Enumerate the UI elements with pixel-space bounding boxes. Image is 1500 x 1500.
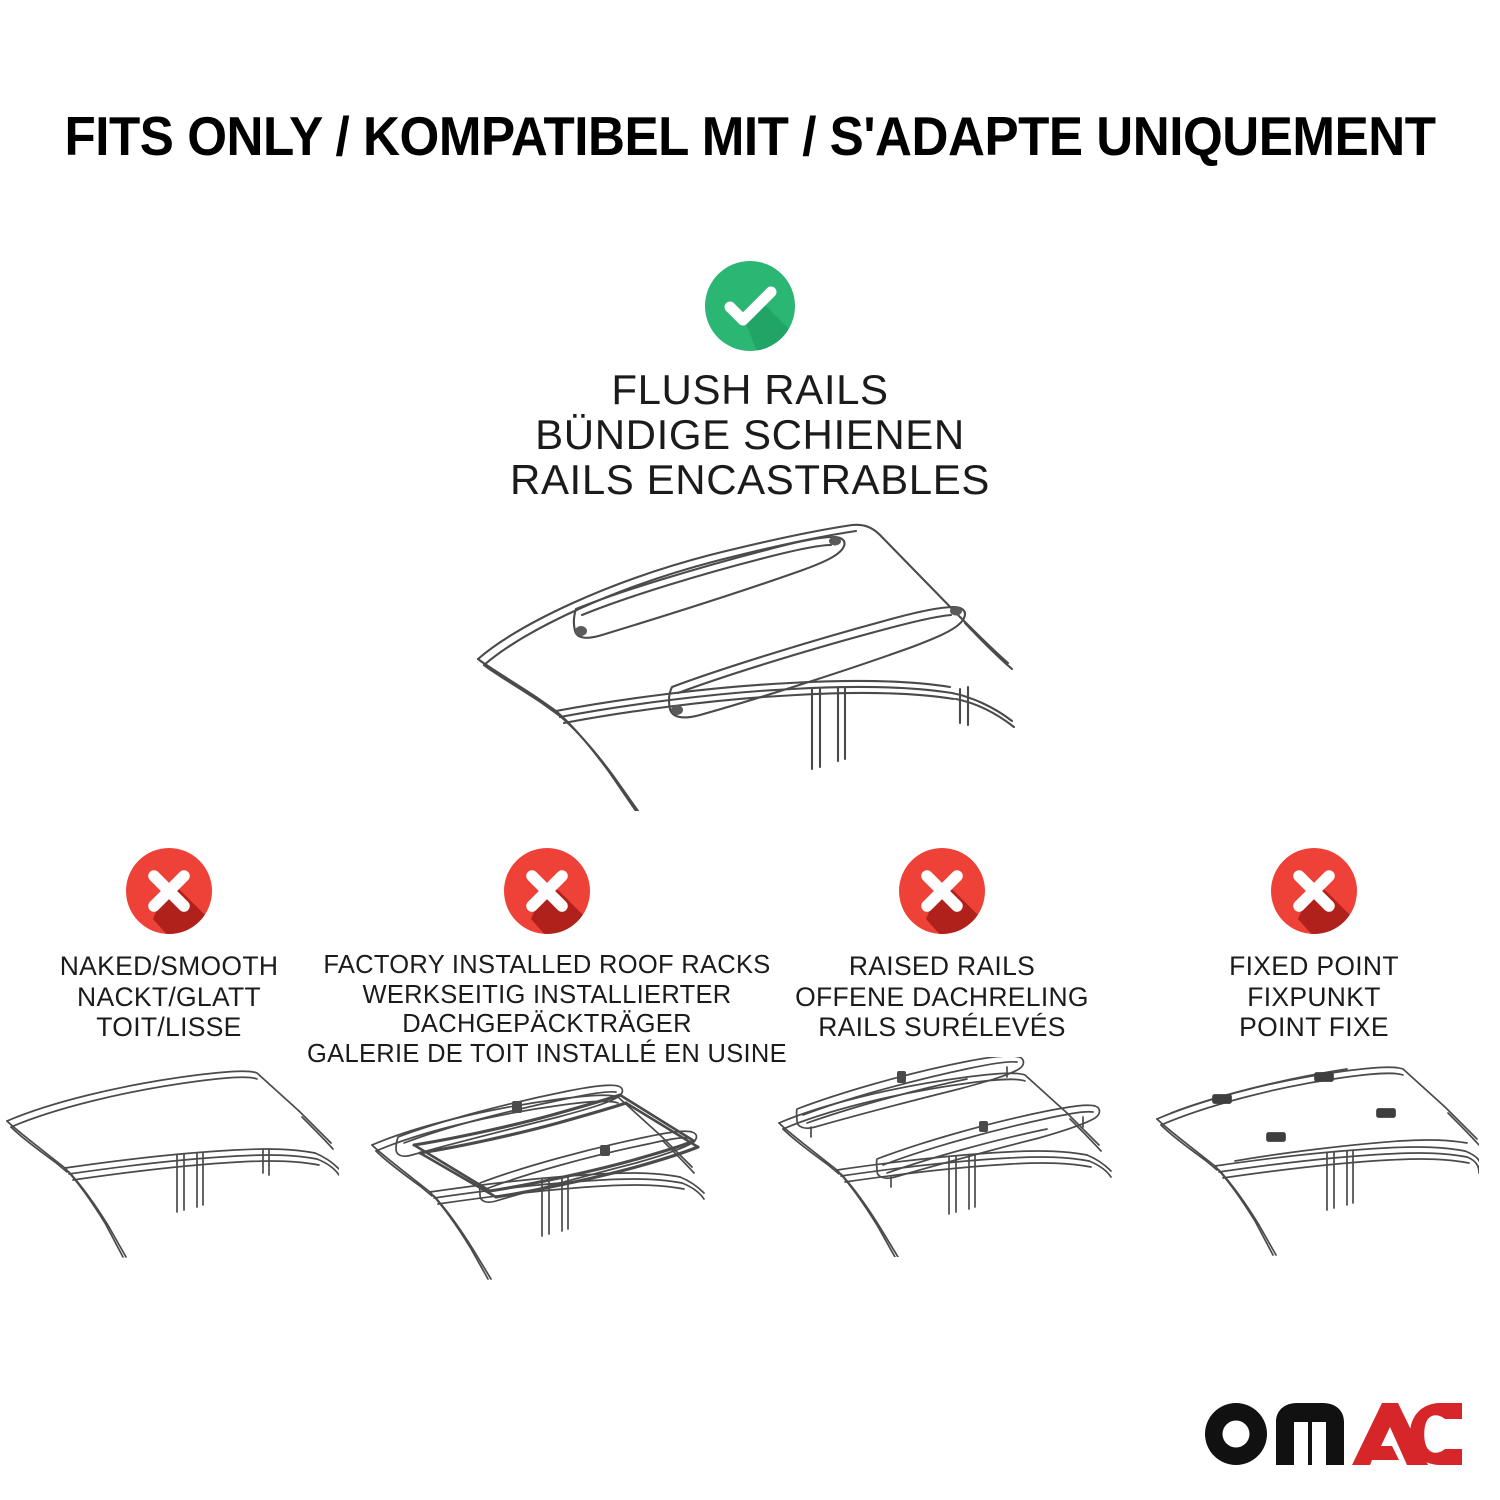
compatible-line-fr: RAILS ENCASTRABLES (510, 458, 990, 503)
x-circle-icon (1268, 845, 1360, 937)
logo-letter-C (1410, 1403, 1462, 1465)
car-roof-naked-illustration (0, 1057, 339, 1272)
check-circle-icon (702, 258, 798, 354)
caption-line-en: RAISED RAILS (795, 951, 1089, 982)
option-naked-smooth-caption: NAKED/SMOOTH NACKT/GLATT TOIT/LISSE (60, 951, 279, 1043)
caption-line-en: FACTORY INSTALLED ROOF RACKS (307, 951, 787, 981)
x-circle-icon (501, 845, 593, 937)
omac-logo (1200, 1392, 1462, 1470)
logo-letter-o (1205, 1403, 1267, 1465)
caption-line-de: NACKT/GLATT (60, 982, 279, 1013)
option-factory-racks: FACTORY INSTALLED ROOF RACKS WERKSEITIG … (338, 845, 756, 1288)
compatible-line-de: BÜNDIGE SCHIENEN (510, 413, 990, 458)
caption-line-en: NAKED/SMOOTH (60, 951, 279, 982)
caption-line-fr: TOIT/LISSE (60, 1012, 279, 1043)
compatible-section: FLUSH RAILS BÜNDIGE SCHIENEN RAILS ENCAS… (0, 258, 1500, 816)
option-naked-smooth: NAKED/SMOOTH NACKT/GLATT TOIT/LISSE (0, 845, 338, 1288)
caption-line-de: FIXPUNKT (1229, 982, 1399, 1013)
page-title: FITS ONLY / KOMPATIBEL MIT / S'ADAPTE UN… (53, 104, 1448, 168)
car-roof-flush-rails-illustration (460, 511, 1040, 816)
x-circle-icon (123, 845, 215, 937)
car-roof-raised-rails-illustration (767, 1057, 1117, 1262)
incompatible-options-row: NAKED/SMOOTH NACKT/GLATT TOIT/LISSE (0, 845, 1500, 1288)
logo-letter-m (1276, 1403, 1344, 1465)
caption-line-fr: POINT FIXE (1229, 1012, 1399, 1043)
caption-line-fr: GALERIE DE TOIT INSTALLÉ EN USINE (307, 1040, 787, 1070)
option-raised-rails: RAISED RAILS OFFENE DACHRELING RAILS SUR… (756, 845, 1128, 1288)
compatible-caption: FLUSH RAILS BÜNDIGE SCHIENEN RAILS ENCAS… (510, 368, 990, 503)
option-factory-racks-caption: FACTORY INSTALLED ROOF RACKS WERKSEITIG … (307, 951, 787, 1069)
option-raised-rails-caption: RAISED RAILS OFFENE DACHRELING RAILS SUR… (795, 951, 1089, 1043)
caption-line-de-2: DACHGEPÄCKTRÄGER (307, 1010, 787, 1040)
compatible-line-en: FLUSH RAILS (510, 368, 990, 413)
caption-line-fr: RAILS SURÉLEVÉS (795, 1012, 1089, 1043)
car-roof-fixed-point-illustration (1149, 1057, 1479, 1262)
option-fixed-point-caption: FIXED POINT FIXPUNKT POINT FIXE (1229, 951, 1399, 1043)
caption-line-de: OFFENE DACHRELING (795, 982, 1089, 1013)
option-fixed-point: FIXED POINT FIXPUNKT POINT FIXE (1128, 845, 1500, 1288)
caption-line-de-1: WERKSEITIG INSTALLIERTER (307, 981, 787, 1011)
x-circle-icon (896, 845, 988, 937)
car-roof-factory-racks-illustration (362, 1083, 732, 1288)
caption-line-en: FIXED POINT (1229, 951, 1399, 982)
